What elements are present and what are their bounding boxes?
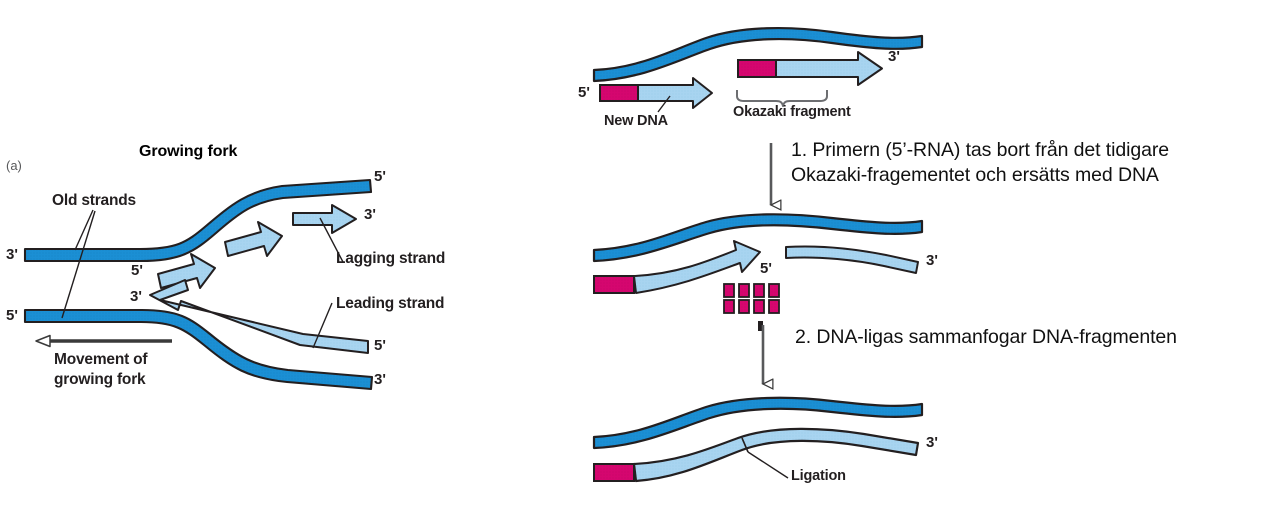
- step-note-1-line-1: 1. Primern (5’-RNA) tas bort från det ti…: [791, 138, 1169, 163]
- stage1-new-dna-arrow-right: [776, 52, 882, 85]
- ligation-label: Ligation: [791, 468, 846, 484]
- stage2-prime-right: 3': [926, 252, 938, 269]
- ligation-leader: [748, 452, 788, 478]
- stage2-prime-mid: 5': [760, 260, 772, 277]
- stage1-prime-right: 3': [888, 48, 900, 65]
- dna-replication-figure: [0, 0, 1270, 522]
- panel-a-prime-lagging-end: 3': [364, 206, 376, 223]
- nucleotide-square: [724, 300, 734, 313]
- nucleotide-square: [739, 300, 749, 313]
- panel-a-prime-parent-bottom-right: 3': [374, 371, 386, 388]
- growing-fork-movement-arrow: [36, 336, 172, 347]
- stage1-prime-left: 5': [578, 84, 590, 101]
- nucleotide-square: [769, 300, 779, 313]
- panel-b-stage-3: [594, 398, 922, 481]
- panel-a-prime-parent-top-left: 3': [6, 246, 18, 263]
- lagging-fragment-arrow-3: [293, 205, 356, 233]
- nucleotide-square: [754, 300, 764, 313]
- nucleotide-square: [769, 284, 779, 297]
- step-note-2-line-1: 2. DNA-ligas sammanfogar DNA-fragmenten: [795, 325, 1177, 350]
- stage2-downstream-fragment: [786, 246, 918, 273]
- stage1-new-dna-arrow-left: [638, 78, 712, 108]
- free-nucleotides-group: [724, 284, 779, 331]
- panel-b-stage-1: [594, 28, 922, 112]
- panel-a-prime-parent-top-right: 5': [374, 168, 386, 185]
- panel-a-prime-lagging-start: 5': [131, 262, 143, 279]
- movement-label-line1: Movement of: [54, 351, 147, 369]
- panel-a-prime-parent-bottom-left: 5': [6, 307, 18, 324]
- old-strands-leader-upper: [75, 210, 93, 250]
- panel-b-stage-2: [594, 214, 922, 331]
- nucleotide-square: [724, 284, 734, 297]
- old-strands-label: Old strands: [52, 192, 136, 210]
- nucleotide-square: [754, 284, 764, 297]
- new-dna-label: New DNA: [604, 113, 668, 129]
- lagging-fragment-arrow-2: [225, 222, 282, 256]
- stage3-rna-primer-left: [594, 464, 634, 481]
- figure-canvas: (a) Growing fork Old strands Lagging str…: [0, 0, 1270, 522]
- panel-a-prime-leading-end: 5': [374, 337, 386, 354]
- lagging-strand-label: Lagging strand: [336, 250, 445, 268]
- stage3-ligated-strand: [634, 429, 918, 481]
- nucleotide-square: [739, 284, 749, 297]
- movement-label-line2: growing fork: [54, 371, 145, 389]
- old-strands-leader-lower: [62, 211, 95, 318]
- panel-a-letter: (a): [6, 158, 22, 173]
- stage1-rna-primer-right: [738, 60, 776, 77]
- stage2-rna-primer-left: [594, 276, 634, 293]
- stage3-prime-right: 3': [926, 434, 938, 451]
- leading-strand-label: Leading strand: [336, 295, 444, 313]
- panel-a-title: Growing fork: [139, 143, 237, 161]
- panel-a-prime-leading-start: 3': [130, 288, 142, 305]
- step-note-1-line-2: Okazaki-fragementet och ersätts med DNA: [791, 163, 1159, 188]
- okazaki-fragment-label: Okazaki fragment: [733, 104, 851, 120]
- stage1-rna-primer-left: [600, 85, 638, 101]
